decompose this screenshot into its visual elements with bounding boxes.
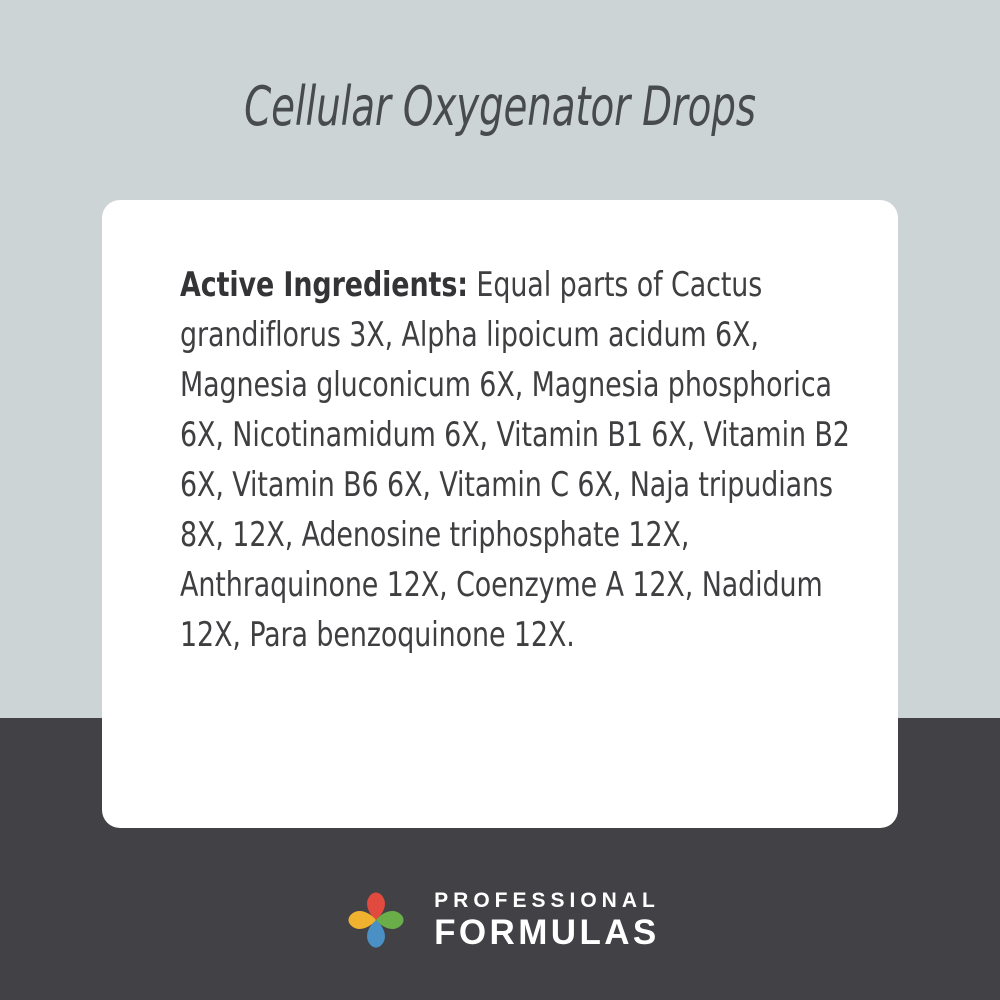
logo-line-formulas: FORMULAS (434, 915, 660, 950)
ingredients-card: Active Ingredients: Equal parts of Cactu… (102, 200, 898, 828)
poster-canvas: Cellular Oxygenator Drops Active Ingredi… (0, 0, 1000, 1000)
ingredients-label: Active Ingredients: (180, 265, 468, 305)
page-title: Cellular Oxygenator Drops (100, 68, 900, 146)
brand-logo: PROFESSIONAL FORMULAS (0, 884, 1000, 956)
logo-line-professional: PROFESSIONAL (434, 890, 660, 911)
four-petal-flower-logo-icon (340, 884, 412, 956)
ingredients-paragraph: Active Ingredients: Equal parts of Cactu… (180, 260, 870, 660)
logo-wordmark: PROFESSIONAL FORMULAS (434, 890, 660, 950)
ingredients-text: Equal parts of Cactus grandiflorus 3X, A… (180, 265, 850, 655)
